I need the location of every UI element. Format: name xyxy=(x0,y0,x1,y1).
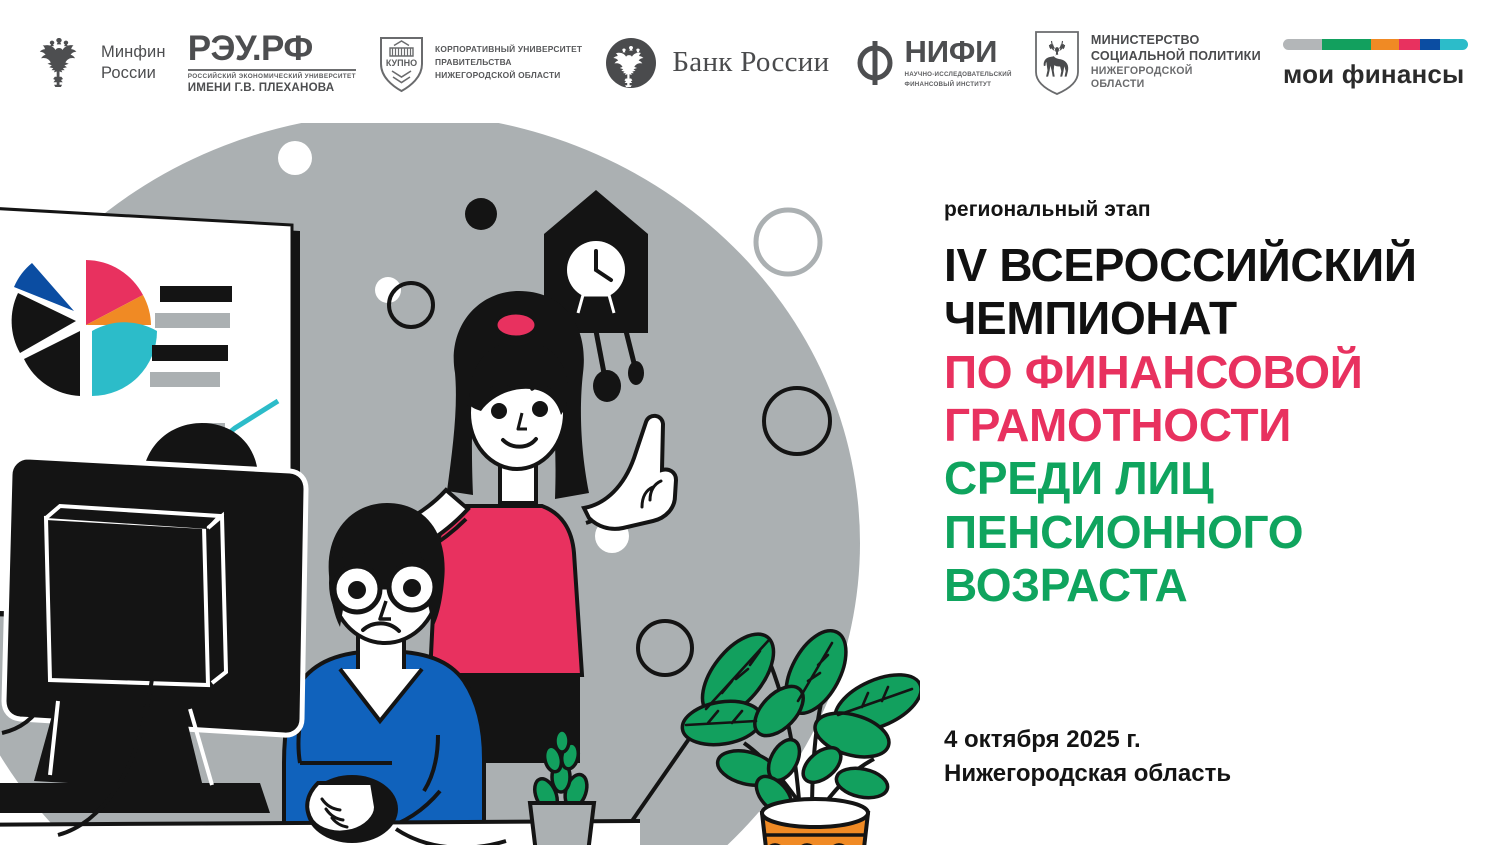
bank-rossii-logo-label: Банк России xyxy=(672,45,829,80)
moi-finansy-wordmark: мои финансы xyxy=(1283,61,1468,87)
sponsor-logo-bar: Минфин России РЭУ.РФ РОССИЙСКИЙ ЭКОНОМИЧ… xyxy=(0,0,1498,125)
moi-finansy-color-bar xyxy=(1283,39,1468,50)
bar-segment-pink xyxy=(1399,39,1419,50)
headline-line-black: IV ВСЕРОССИЙСКИЙ ЧЕМПИОНАТ xyxy=(944,239,1464,346)
reu-logo-main: РЭУ.РФ xyxy=(188,31,313,66)
bar-segment-blue xyxy=(1420,39,1440,50)
eagle-roundel-icon xyxy=(604,36,658,90)
decor-circle-white-1 xyxy=(278,141,312,175)
moi-finansy-logo: мои финансы xyxy=(1283,39,1468,87)
minfin-logo-label: Минфин России xyxy=(101,42,166,82)
ministry-logo-line2: НИЖЕГОРОДСКОЙ ОБЛАСТИ xyxy=(1091,65,1261,91)
decor-circle-black-1 xyxy=(465,198,497,230)
nifi-logo-main: НИФИ xyxy=(905,36,1012,67)
ministerstvo-socialnoy-politiki-logo: МИНИСТЕРСТВО СОЦИАЛЬНОЙ ПОЛИТИКИ НИЖЕГОР… xyxy=(1034,30,1261,96)
reu-logo-sub1: РОССИЙСКИЙ ЭКОНОМИЧЕСКИЙ УНИВЕРСИТЕТ xyxy=(188,73,356,80)
decor-circle-outline-2 xyxy=(756,210,820,274)
nifi-logo: НИФИ НАУЧНО-ИССЛЕДОВАТЕЛЬСКИЙ ФИНАНСОВЫЙ… xyxy=(852,34,1012,92)
reu-divider xyxy=(188,69,356,71)
svg-text:КУПНО: КУПНО xyxy=(386,58,417,68)
bar-segment-orange xyxy=(1371,39,1399,50)
illustration-canvas xyxy=(0,123,920,845)
headline-line-green: СРЕДИ ЛИЦ ПЕНСИОННОГО ВОЗРАСТА xyxy=(944,452,1464,612)
ministry-logo-line1: МИНИСТЕРСТВО СОЦИАЛЬНОЙ ПОЛИТИКИ xyxy=(1091,33,1261,64)
reu-plekhanova-logo: РЭУ.РФ РОССИЙСКИЙ ЭКОНОМИЧЕСКИЙ УНИВЕРСИ… xyxy=(188,31,356,94)
kupno-logo-label: КОРПОРАТИВНЫЙ УНИВЕРСИТЕТ ПРАВИТЕЛЬСТВА … xyxy=(435,43,582,82)
hair-tie xyxy=(496,313,536,337)
phi-symbol-icon xyxy=(852,34,898,92)
double-headed-eagle-emblem-icon xyxy=(28,32,90,94)
nifi-logo-sub: НАУЧНО-ИССЛЕДОВАТЕЛЬСКИЙ ФИНАНСОВЫЙ ИНСТ… xyxy=(905,70,1012,89)
headline-line-pink: ПО ФИНАНСОВОЙ ГРАМОТНОСТИ xyxy=(944,346,1464,453)
kupno-logo: КУПНО КОРПОРАТИВНЫЙ УНИВЕРСИТЕТ ПРАВИТЕЛ… xyxy=(378,32,582,94)
bar-segment-teal xyxy=(1440,39,1468,50)
poster-root: Минфин России РЭУ.РФ РОССИЙСКИЙ ЭКОНОМИЧ… xyxy=(0,0,1498,845)
headline-block: региональный этап IV ВСЕРОССИЙСКИЙ ЧЕМПИ… xyxy=(944,198,1464,613)
shield-kupno-icon: КУПНО xyxy=(378,32,425,94)
deer-coat-of-arms-icon xyxy=(1034,30,1080,96)
bank-rossii-logo: Банк России xyxy=(604,36,829,90)
reu-logo-sub2: ИМЕНИ Г.В. ПЛЕХАНОВА xyxy=(188,81,335,94)
office-people-illustration xyxy=(0,123,920,845)
event-details: 4 октября 2025 г. Нижегородская область xyxy=(944,723,1231,791)
headline-kicker: региональный этап xyxy=(944,198,1464,222)
bar-segment-green xyxy=(1322,39,1372,50)
minfin-rossii-logo: Минфин России xyxy=(28,32,166,94)
bar-segment-grey xyxy=(1283,39,1322,50)
